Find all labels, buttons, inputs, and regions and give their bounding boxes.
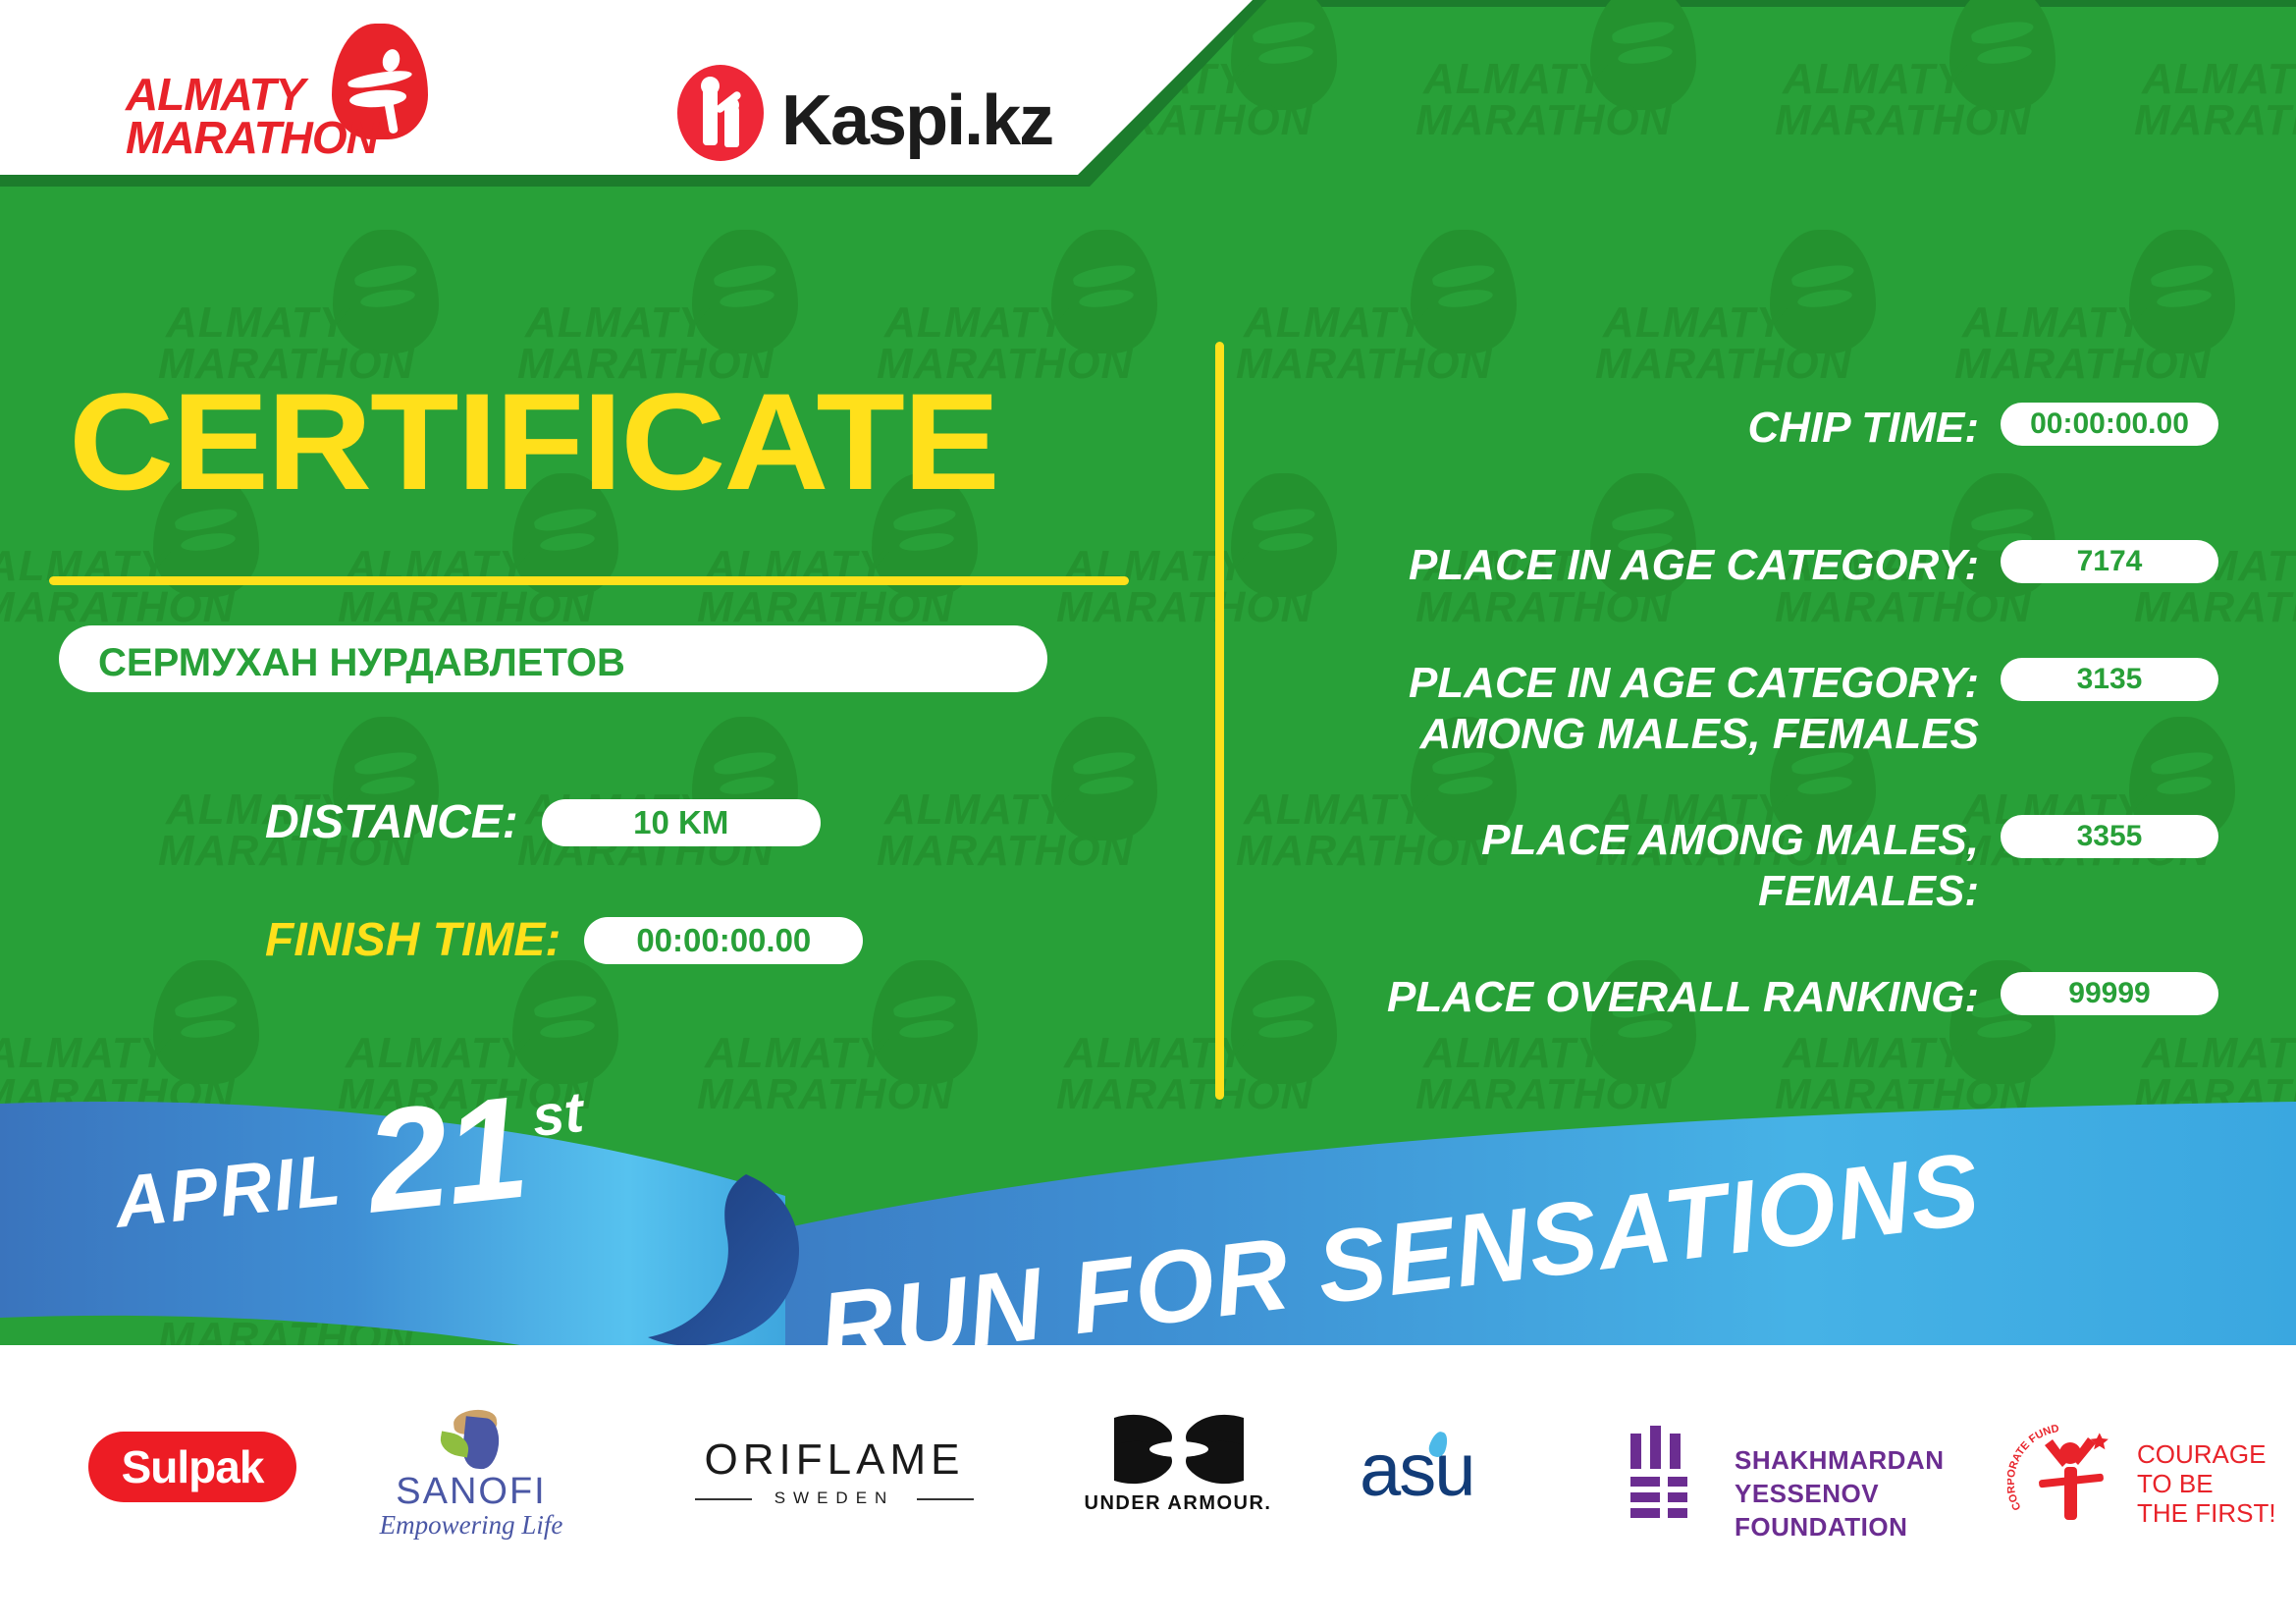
watermark-line-2: MARATHON	[2134, 96, 2296, 145]
sulpak-wordmark: Sulpak	[122, 1440, 264, 1493]
participant-name-field: СЕРМУХАН НУРДАВЛЕТОВ	[59, 625, 1047, 692]
asu-logo: asu	[1360, 1428, 1556, 1516]
watermark-drop-icon	[153, 960, 259, 1084]
watermark-drop-icon	[1949, 0, 2056, 110]
runner-head-shape	[380, 47, 401, 74]
watermark-tile: ALMATYMARATHON	[1757, 0, 2120, 226]
kaspi-wordmark: Kaspi.kz	[781, 81, 1052, 161]
watermark-drop-icon	[692, 230, 798, 353]
almaty-marathon-logo: ALMATY MARATHON	[126, 61, 459, 169]
watermark-drop-icon	[333, 230, 439, 353]
distance-value: 10 KM	[633, 804, 728, 841]
watermark-drop-icon	[872, 960, 978, 1084]
ribbon-ordinal: st	[529, 1080, 589, 1149]
stat-label-among-gender: PLACE AMONG MALES, FEMALES:	[1276, 815, 1979, 917]
watermark-drop-icon	[1770, 230, 1876, 353]
stat-value-age-category-gender: 3135	[2077, 663, 2143, 696]
watermark-line-2: MARATHON	[1415, 96, 1672, 145]
svg-text:CORPORATE FUND: CORPORATE FUND	[2007, 1423, 2060, 1512]
stat-pill-age-category-gender: 3135	[2001, 658, 2218, 701]
stat-label-overall: PLACE OVERALL RANKING:	[1276, 972, 1979, 1023]
yessenov-bars-icon	[1625, 1426, 1713, 1520]
kaspi-adult-body	[703, 81, 718, 145]
watermark-line-2: MARATHON	[877, 827, 1133, 876]
title-underline	[49, 576, 1129, 585]
yessenov-logo: SHAKHMARDAN YESSENOV FOUNDATION	[1625, 1418, 2037, 1536]
oriflame-logo: ORIFLAME SWEDEN	[687, 1432, 982, 1520]
under-armour-logo: UNDER ARMOUR.	[1075, 1414, 1281, 1522]
stat-value-overall: 99999	[2068, 977, 2150, 1010]
ribbon-day: 21	[356, 1080, 533, 1244]
almaty-marathon-wordmark: ALMATY MARATHON	[126, 73, 378, 159]
column-divider	[1215, 342, 1224, 1100]
watermark-drop-icon	[512, 960, 618, 1084]
sponsor-sanofi: SANOFI Empowering Life	[363, 1410, 579, 1538]
watermark-tile: ALMATYMARATHON	[1398, 0, 1761, 226]
watermark-drop-icon	[1411, 230, 1517, 353]
stat-label-chip-time: CHIP TIME:	[1276, 403, 1979, 454]
sponsor-yessenov-foundation: SHAKHMARDAN YESSENOV FOUNDATION	[1625, 1418, 2037, 1536]
under-armour-icon	[1114, 1414, 1244, 1485]
stat-row-age-category-gender: PLACE IN AGE CATEGORY: AMONG MALES, FEMA…	[1276, 658, 2218, 760]
sponsor-oriflame: ORIFLAME SWEDEN	[687, 1432, 982, 1520]
distance-value-pill: 10 KM	[542, 799, 821, 846]
stat-row-overall: PLACE OVERALL RANKING: 99999	[1276, 972, 2218, 1023]
logo-line-2: MARATHON	[126, 116, 378, 159]
watermark-tile: ALMATYMARATHON	[2116, 0, 2296, 226]
oriflame-rule-right	[917, 1498, 974, 1500]
sponsors-row: Sulpak SANOFI Empowering Life ORIFLAME S…	[0, 1414, 2296, 1581]
watermark-drop-icon	[2129, 230, 2235, 353]
watermark-line-2: MARATHON	[1954, 340, 2211, 389]
certificate-page: ALMATYMARATHONALMATYMARATHONALMATYMARATH…	[0, 0, 2296, 1624]
watermark-tile: ALMATYMARATHON	[859, 711, 1222, 956]
watermark-line-2: MARATHON	[1775, 96, 2031, 145]
stat-pill-overall: 99999	[2001, 972, 2218, 1015]
yessenov-wordmark: SHAKHMARDAN YESSENOV FOUNDATION	[1735, 1443, 2037, 1543]
logo-line-1: ALMATY	[126, 73, 378, 116]
sponsor-sulpak: Sulpak	[88, 1432, 296, 1502]
stat-label-age-category: PLACE IN AGE CATEGORY:	[1276, 540, 1979, 591]
stat-row-chip-time: CHIP TIME: 00:00:00.00	[1276, 403, 2218, 454]
watermark-line-2: MARATHON	[1056, 583, 1312, 632]
runner-leg-shape	[384, 99, 399, 134]
sulpak-logo: Sulpak	[88, 1432, 296, 1502]
oriflame-wordmark: ORIFLAME	[687, 1435, 982, 1485]
distance-label: DISTANCE:	[265, 795, 518, 849]
watermark-line-2: MARATHON	[1595, 340, 1851, 389]
kaspi-family-icon	[677, 65, 764, 161]
participant-name: СЕРМУХАН НУРДАВЛЕТОВ	[98, 641, 625, 685]
stat-label-age-category-gender: PLACE IN AGE CATEGORY: AMONG MALES, FEMA…	[1276, 658, 1979, 760]
watermark-line-2: MARATHON	[1236, 340, 1492, 389]
watermark-drop-icon	[1051, 230, 1157, 353]
kaspi-child-body	[724, 104, 739, 147]
stat-pill-chip-time: 00:00:00.00	[2001, 403, 2218, 446]
finish-time-value: 00:00:00.00	[636, 922, 811, 959]
sponsor-courage-fund: CORPORATE FUND COURAGE TO BE THE FIRST!	[2007, 1414, 2282, 1532]
stat-row-age-category: PLACE IN AGE CATEGORY: 7174	[1276, 540, 2218, 591]
courage-wordmark: COURAGE TO BE THE FIRST!	[2137, 1439, 2276, 1528]
kaspi-logo: Kaspi.kz	[677, 61, 1090, 169]
under-armour-wordmark: UNDER ARMOUR.	[1075, 1492, 1281, 1515]
sanofi-logo: SANOFI Empowering Life	[363, 1410, 579, 1538]
stat-value-chip-time: 00:00:00.00	[2030, 407, 2189, 441]
courage-runner-icon: CORPORATE FUND	[2007, 1418, 2135, 1526]
finish-time-row: FINISH TIME: 00:00:00.00	[265, 913, 863, 967]
sanofi-mark-icon	[434, 1410, 505, 1471]
finish-time-label: FINISH TIME:	[265, 913, 561, 967]
distance-row: DISTANCE: 10 KM	[265, 795, 821, 849]
sanofi-wordmark: SANOFI	[363, 1471, 579, 1513]
sponsor-asu: asu	[1360, 1428, 1556, 1516]
finish-time-value-pill: 00:00:00.00	[584, 917, 863, 964]
sanofi-tagline: Empowering Life	[363, 1510, 579, 1541]
stat-value-age-category: 7174	[2077, 545, 2143, 578]
asu-wordmark: asu	[1360, 1428, 1474, 1513]
stat-row-among-gender: PLACE AMONG MALES, FEMALES: 3355	[1276, 815, 2218, 917]
watermark-drop-icon	[1051, 717, 1157, 840]
stat-value-among-gender: 3355	[2077, 820, 2143, 853]
stat-pill-among-gender: 3355	[2001, 815, 2218, 858]
stat-pill-age-category: 7174	[2001, 540, 2218, 583]
watermark-drop-icon	[1590, 0, 1696, 110]
courage-logo: CORPORATE FUND COURAGE TO BE THE FIRST!	[2007, 1414, 2282, 1532]
sponsor-under-armour: UNDER ARMOUR.	[1075, 1414, 1281, 1522]
page-title: CERTIFICATE	[69, 373, 998, 511]
